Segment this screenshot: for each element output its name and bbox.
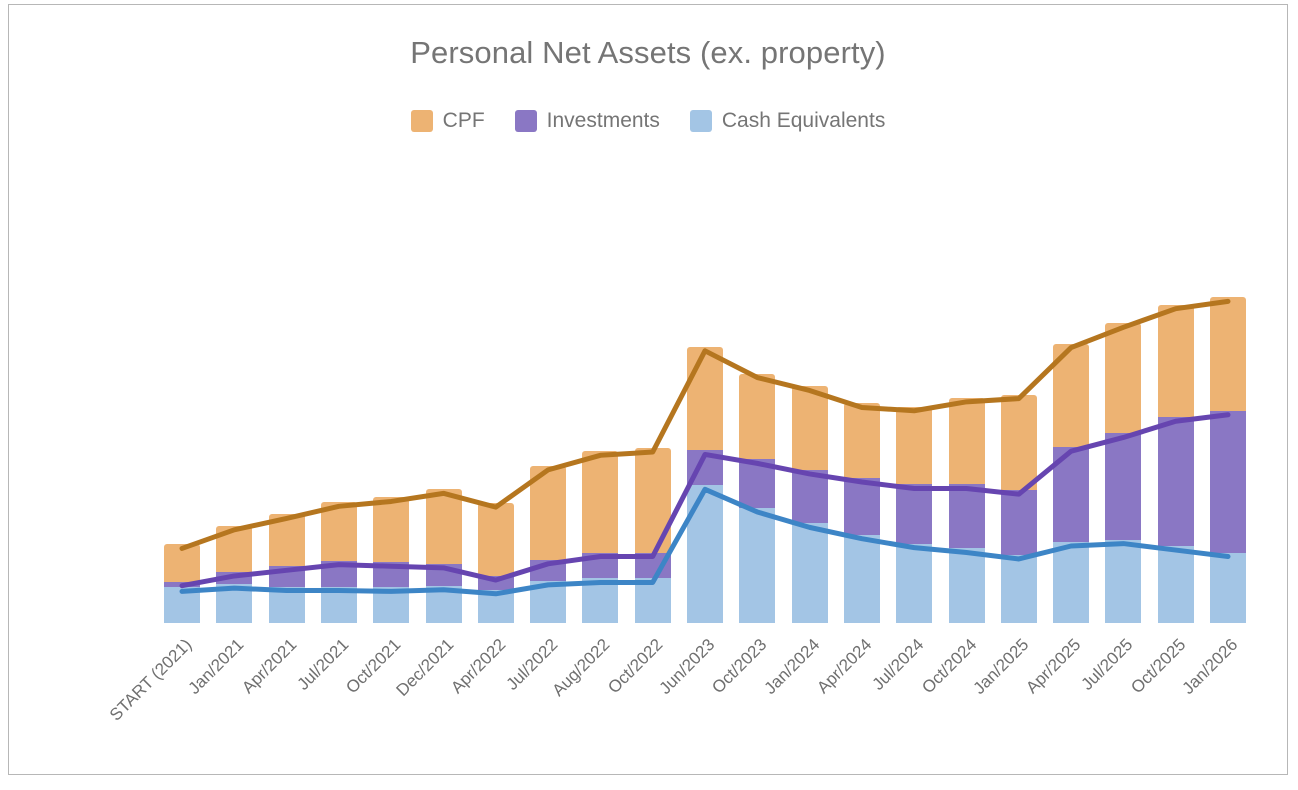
bar-segment — [582, 578, 618, 623]
x-axis-tick-label: Apr/2022 — [447, 635, 510, 698]
bar-segment — [1105, 323, 1141, 433]
bar-segment — [1158, 417, 1194, 546]
bar-segment — [896, 484, 932, 543]
bar-segment — [739, 508, 775, 623]
bar-segment — [949, 398, 985, 485]
bar-segment — [478, 503, 514, 576]
bar-segment — [1158, 305, 1194, 418]
bar-segment — [739, 459, 775, 508]
legend-item-cash-equivalents[interactable]: Cash Equivalents — [690, 109, 885, 133]
legend-swatch-investments — [515, 110, 537, 132]
bar-segment — [1001, 490, 1037, 555]
bar-segment — [216, 526, 252, 572]
bar-segment — [426, 489, 462, 564]
x-axis-tick-label: Apr/2025 — [1022, 635, 1085, 698]
page-title: Personal Net Assets (ex. property) — [9, 35, 1287, 71]
x-axis-tick-label: Jan/2021 — [185, 635, 249, 699]
bar-segment — [164, 582, 200, 588]
bar-segment — [1053, 344, 1089, 448]
bar-segment — [582, 553, 618, 579]
bar-segment — [635, 448, 671, 552]
chart-frame: Personal Net Assets (ex. property) CPF I… — [8, 4, 1288, 775]
bar-segment — [530, 466, 566, 560]
bar-segment — [426, 586, 462, 623]
bar-segment — [216, 572, 252, 584]
legend-label-investments: Investments — [547, 109, 660, 133]
x-axis-tick-label: Oct/2025 — [1127, 635, 1190, 698]
x-axis-tick-label: Jun/2023 — [656, 635, 720, 699]
bar-segment — [1053, 447, 1089, 542]
bar-segment — [1053, 542, 1089, 623]
bar-segment — [896, 544, 932, 623]
bar-segment — [1105, 540, 1141, 623]
bar-segment — [269, 514, 305, 566]
bar-segment — [216, 584, 252, 623]
bar-segment — [1158, 546, 1194, 623]
bar-segment — [373, 562, 409, 587]
bar-segment — [792, 386, 828, 469]
bar-segment — [687, 347, 723, 451]
bar-segment — [1210, 553, 1246, 623]
bar-segment — [164, 587, 200, 623]
bar-segment — [739, 374, 775, 460]
bar-segment — [582, 451, 618, 552]
bar-segment — [1210, 297, 1246, 410]
x-axis-tick-label: Jan/2026 — [1179, 635, 1243, 699]
bar-segment — [792, 523, 828, 623]
bar-segment — [949, 484, 985, 548]
bar-segment — [530, 581, 566, 623]
bar-segment — [844, 403, 880, 478]
bar-segment — [687, 450, 723, 485]
bar-segment — [1001, 395, 1037, 491]
x-axis-tick-label: Apr/2021 — [238, 635, 301, 698]
legend-label-cash-equivalents: Cash Equivalents — [722, 109, 885, 133]
bar-segment — [792, 470, 828, 523]
chart-legend: CPF Investments Cash Equivalents — [9, 109, 1287, 133]
x-axis-tick-label: Apr/2024 — [813, 635, 876, 698]
legend-item-cpf[interactable]: CPF — [411, 109, 485, 133]
bar-segment — [530, 560, 566, 581]
bar-segment — [478, 590, 514, 623]
x-axis-tick-label: Jan/2024 — [760, 635, 824, 699]
bar-segment — [687, 485, 723, 623]
x-axis-tick-label: Oct/2024 — [918, 635, 981, 698]
bar-segment — [321, 587, 357, 623]
bar-segment — [269, 587, 305, 623]
x-axis-tick-label: Oct/2022 — [604, 635, 667, 698]
bar-segment — [896, 407, 932, 485]
bar-segment — [164, 544, 200, 581]
bar-segment — [373, 497, 409, 562]
bar-segment — [269, 566, 305, 586]
bar-segment — [373, 587, 409, 623]
bar-segment — [635, 578, 671, 623]
bar-segment — [844, 478, 880, 535]
bar-segment — [635, 553, 671, 579]
legend-label-cpf: CPF — [443, 109, 485, 133]
bar-segment — [1001, 555, 1037, 623]
bar-segment — [478, 576, 514, 590]
x-axis-tick-label: Oct/2023 — [709, 635, 772, 698]
x-axis-tick-label: Jan/2025 — [969, 635, 1033, 699]
bar-segment — [1210, 411, 1246, 553]
bar-segment — [426, 564, 462, 586]
x-axis-tick-label: Dec/2021 — [392, 635, 458, 701]
bar-segment — [844, 535, 880, 623]
x-axis-tick-label: START (2021) — [106, 635, 196, 725]
bar-segment — [321, 502, 357, 560]
bar-segment — [949, 548, 985, 623]
chart-screenshot: Personal Net Assets (ex. property) CPF I… — [0, 0, 1298, 790]
legend-swatch-cpf — [411, 110, 433, 132]
bar-segment — [1105, 433, 1141, 539]
legend-item-investments[interactable]: Investments — [515, 109, 660, 133]
legend-swatch-cash-equivalents — [690, 110, 712, 132]
bar-segment — [321, 561, 357, 587]
